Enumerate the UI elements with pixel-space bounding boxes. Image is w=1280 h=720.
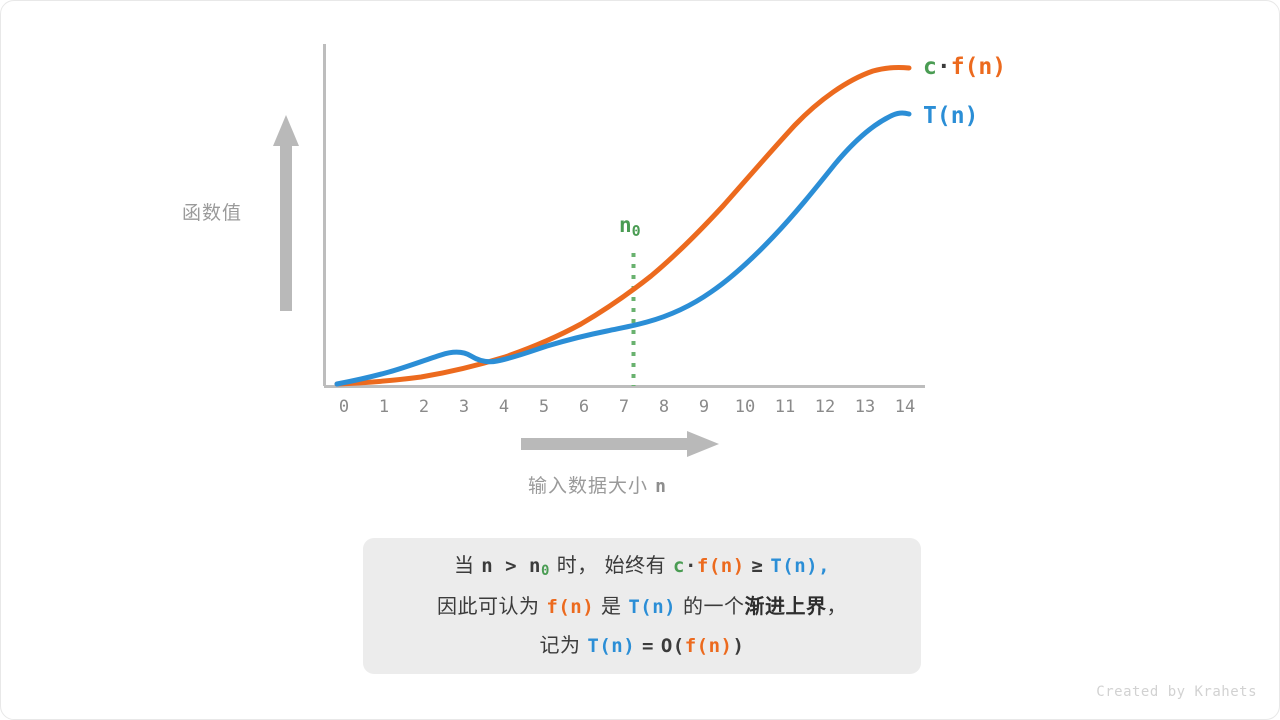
caption-line-3: 记为 T(n) = O(f(n))	[540, 626, 745, 665]
x-tick-13: 13	[845, 397, 885, 417]
x-axis-label-variable: n	[655, 476, 667, 497]
legend-item-c-f-n: c·f(n)	[923, 54, 1006, 80]
x-tick-6: 6	[564, 397, 604, 417]
caption-l1-s1: 当	[454, 553, 475, 577]
x-tick-0: 0	[324, 397, 364, 417]
caption-l3-o-open: O(	[661, 635, 685, 657]
caption-l2-strong: 渐进上界	[744, 594, 826, 618]
caption-box: 当 n > n0 时， 始终有 c·f(n) ≥ T(n), 因此可认为 f(n…	[363, 538, 921, 674]
caption-l1-ge: ≥	[752, 555, 764, 577]
x-tick-3: 3	[444, 397, 484, 417]
caption-l1-s3: 始终有	[605, 553, 667, 577]
figure-canvas: 函数值 输入数据大小 n 0 1 2 3 4 5 6 7 8 9 10 11 1…	[0, 0, 1280, 720]
n0-subscript: 0	[632, 222, 641, 240]
x-tick-5: 5	[524, 397, 564, 417]
legend-t-n-symbol: T(n)	[923, 103, 978, 129]
caption-l3-o-close: )	[733, 635, 745, 657]
x-tick-10: 10	[725, 397, 765, 417]
caption-l1-n0-sub: 0	[541, 563, 550, 579]
caption-l2-f-n: f(n)	[546, 596, 594, 618]
caption-line-2: 因此可认为 f(n) 是 T(n) 的一个渐进上界，	[437, 587, 847, 626]
y-direction-arrow	[273, 115, 299, 311]
legend-item-t-n: T(n)	[923, 103, 978, 129]
caption-l1-f-n: f(n)	[697, 555, 745, 577]
caption-l3-f-n: f(n)	[685, 635, 733, 657]
x-tick-12: 12	[805, 397, 845, 417]
caption-l1-t-n: T(n),	[770, 555, 830, 577]
x-tick-4: 4	[484, 397, 524, 417]
x-axis-label: 输入数据大小 n	[528, 477, 667, 496]
x-tick-14: 14	[885, 397, 925, 417]
caption-l1-s2: 时，	[557, 553, 598, 577]
caption-line-1: 当 n > n0 时， 始终有 c·f(n) ≥ T(n),	[454, 546, 830, 587]
x-tick-1: 1	[364, 397, 404, 417]
caption-l2-s3: 的一个	[683, 594, 745, 618]
y-axis-label: 函数值	[182, 204, 242, 223]
caption-l3-t-n: T(n)	[587, 635, 635, 657]
credit-text: Created by Krahets	[1096, 684, 1257, 700]
caption-l2-s4: ，	[826, 594, 847, 618]
x-tick-11: 11	[765, 397, 805, 417]
n0-label: n0	[619, 213, 641, 237]
x-axis-label-text: 输入数据大小	[528, 475, 648, 497]
legend-c-symbol: c	[923, 54, 937, 80]
x-tick-8: 8	[644, 397, 684, 417]
caption-l1-c: c	[673, 555, 685, 577]
caption-l1-n-gt-n0: n > n0	[481, 555, 550, 577]
caption-l2-s2: 是	[601, 594, 622, 618]
caption-l1-m1: n > n	[481, 555, 541, 577]
caption-l2-t-n: T(n)	[628, 596, 676, 618]
caption-l3-s1: 记为	[540, 633, 581, 657]
x-direction-arrow	[521, 431, 719, 457]
caption-l3-eq: =	[642, 635, 654, 657]
legend-f-n-symbol: f(n)	[951, 54, 1006, 80]
n0-base: n	[619, 213, 632, 237]
x-tick-2: 2	[404, 397, 444, 417]
caption-l1-dot: ·	[685, 555, 697, 577]
x-tick-7: 7	[604, 397, 644, 417]
caption-l2-s1: 因此可认为	[437, 594, 540, 618]
curve-t-n	[337, 113, 909, 384]
legend-dot-symbol: ·	[937, 54, 951, 80]
x-tick-9: 9	[684, 397, 724, 417]
